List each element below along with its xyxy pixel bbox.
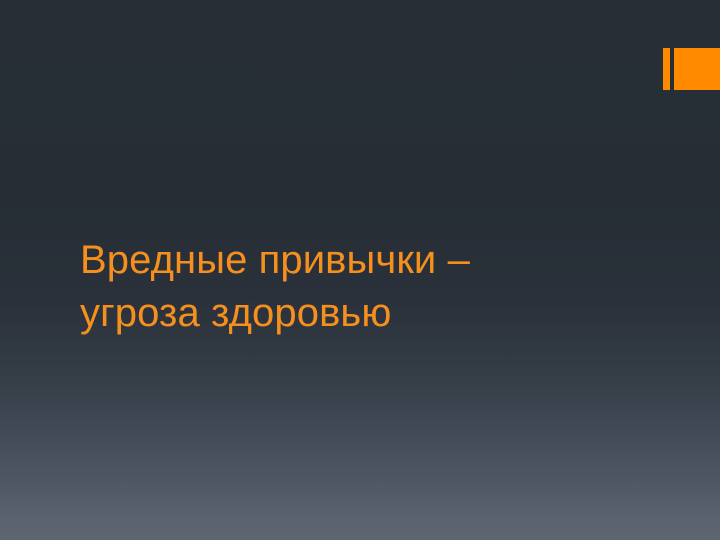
title-block: Вредные привычки – угроза здоровью xyxy=(80,234,640,340)
slide-title: Вредные привычки – угроза здоровью xyxy=(80,234,640,340)
presentation-slide: Вредные привычки – угроза здоровью xyxy=(0,0,720,540)
accent-bar-thin-icon xyxy=(663,48,670,90)
accent-bar-block-icon xyxy=(674,48,720,90)
corner-accent-bars xyxy=(663,48,720,90)
